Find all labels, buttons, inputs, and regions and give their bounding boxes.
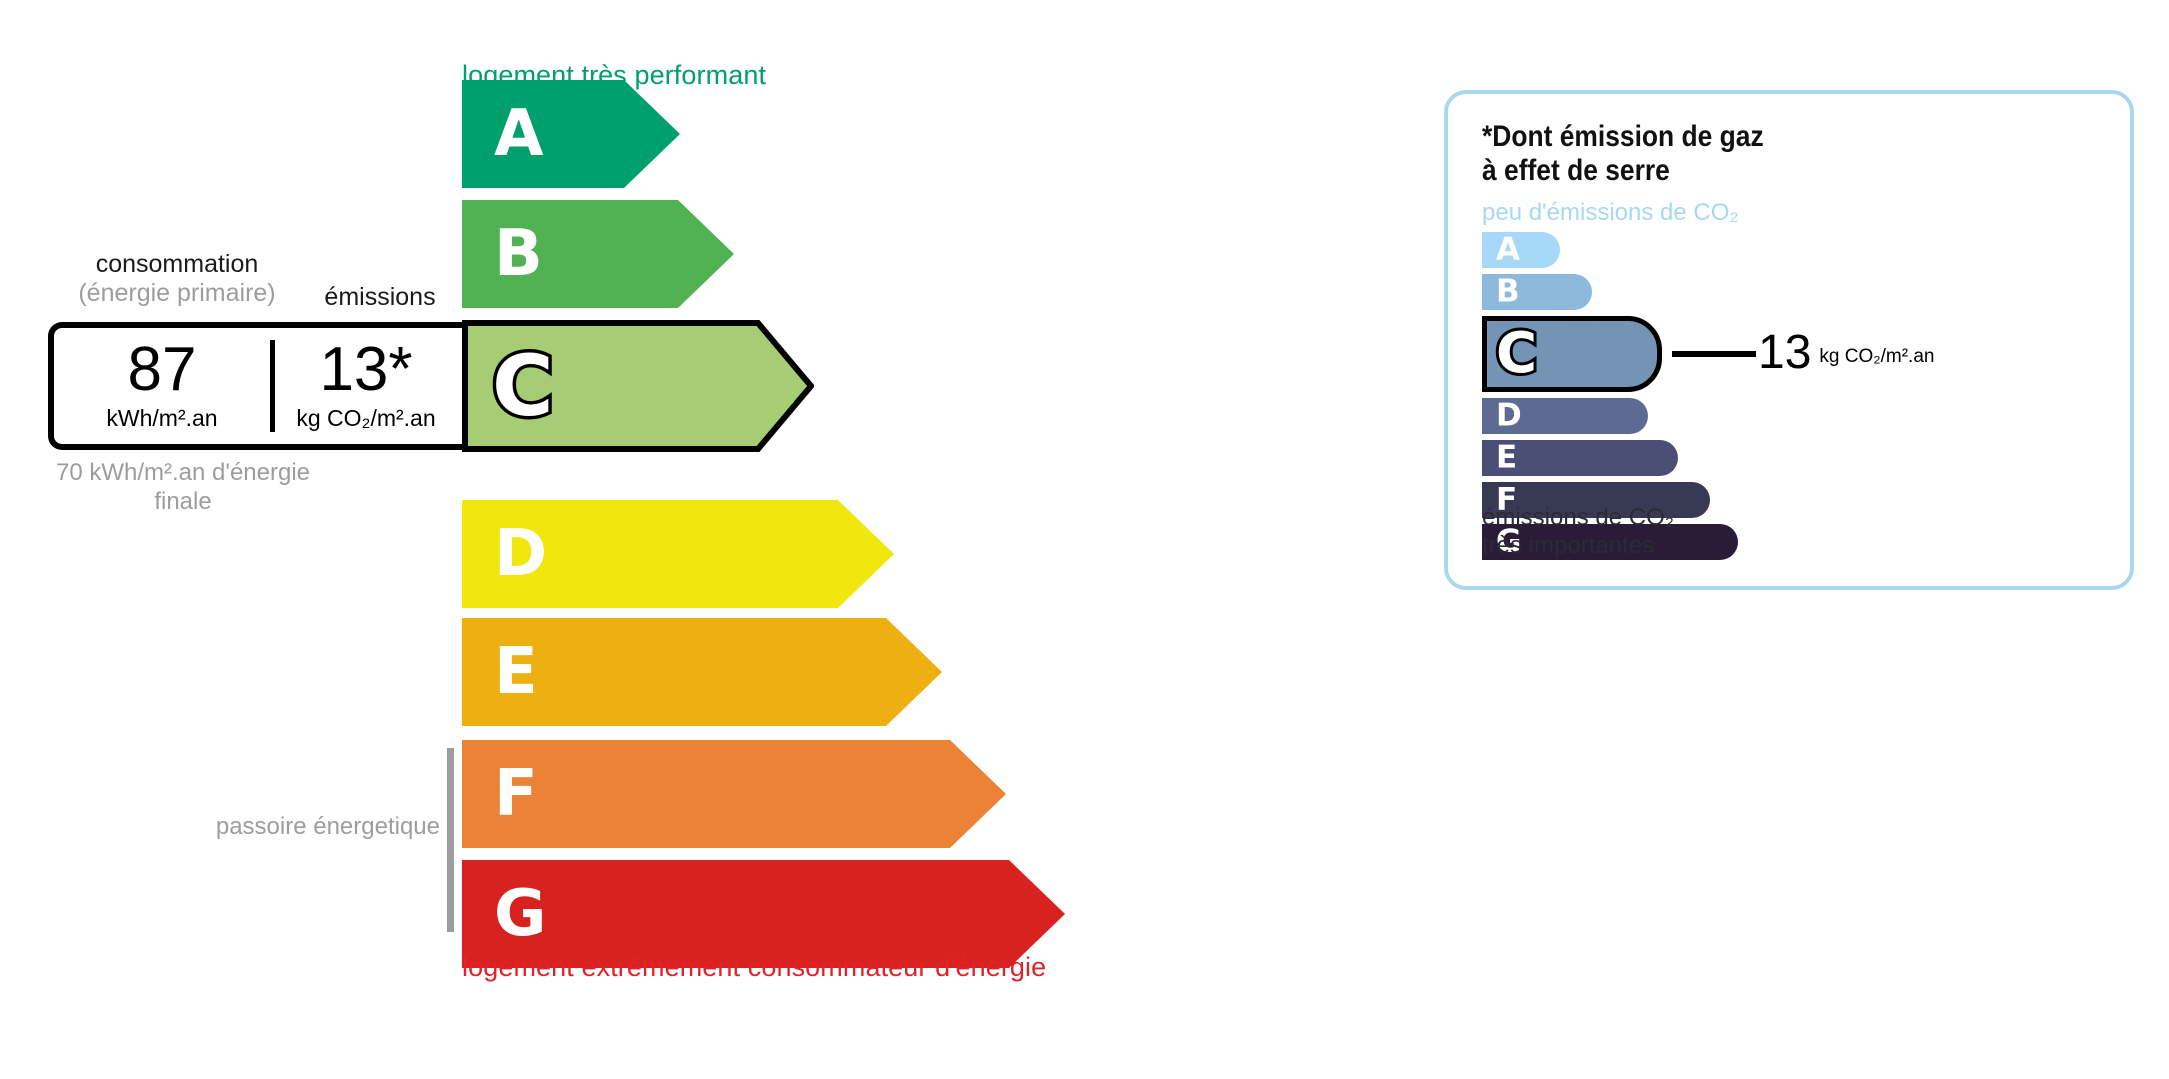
ges-value-unit: kg CO₂/m².an (1819, 346, 1934, 367)
consumption-unit: kWh/m².an (106, 405, 217, 431)
energy-grade-letter-d: D (494, 522, 546, 586)
consumption-label-line1: consommation (52, 250, 302, 279)
energy-grade-bar-b: B (462, 200, 734, 308)
passoire-rule (447, 748, 454, 932)
consumption-label: consommation (énergie primaire) (52, 250, 302, 308)
ges-grade-bar-c: C (1482, 316, 1662, 392)
emissions-value-cell: 13* kg CO₂/m².an (270, 328, 462, 444)
passoire-note: passoire énergetique (120, 812, 440, 841)
ges-grade-letter-d: D (1496, 401, 1522, 432)
ges-bottom-caption: émissions de CO₂ très importantes (1482, 504, 1674, 560)
energy-grade-arrow-f (462, 740, 1006, 848)
consumption-value: 87 (128, 341, 197, 399)
emissions-label: émissions (300, 283, 460, 312)
ges-grade-bar-a: A (1482, 232, 1560, 268)
ges-grade-bar-d: D (1482, 398, 1648, 434)
energy-grade-letter-b: B (494, 222, 542, 286)
ges-grade-bar-b: B (1482, 274, 1592, 310)
energy-grade-bar-f: F (462, 740, 1006, 848)
ges-value: 13kg CO₂/m².an (1758, 329, 1934, 381)
energy-grade-arrow-shape (462, 740, 1006, 848)
consumption-label-line2: (énergie primaire) (52, 279, 302, 308)
energy-grade-bar-a: A (462, 80, 680, 188)
ges-grade-letter-c: C (1496, 326, 1537, 382)
emissions-unit: kg CO₂/m².an (296, 405, 435, 431)
energy-grade-letter-e: E (494, 640, 537, 704)
ges-value-number: 13 (1758, 326, 1811, 379)
final-energy-note: 70 kWh/m².an d'énergie finale (48, 458, 318, 516)
energy-value-box: 87 kWh/m².an 13* kg CO₂/m².an (48, 322, 462, 450)
ges-panel-title: *Dont émission de gaz à effet de serre (1482, 120, 1764, 188)
energy-grade-bar-e: E (462, 618, 942, 726)
ges-grade-letter-a: A (1496, 235, 1520, 266)
ges-grade-bar-e: E (1482, 440, 1678, 476)
energy-grade-bar-c: C (462, 320, 814, 452)
ges-grade-letter-b: B (1496, 277, 1520, 308)
ges-leader-line (1672, 351, 1756, 357)
energy-grade-letter-g: G (494, 882, 546, 946)
emissions-value: 13* (319, 341, 412, 399)
energy-grade-bar-d: D (462, 500, 894, 608)
energy-performance-diagram: logement très performant ABCDEFG consomm… (0, 0, 1430, 1079)
energy-grade-letter-c: C (492, 344, 553, 428)
ges-top-caption: peu d'émissions de CO₂ (1482, 199, 1739, 227)
ges-panel: *Dont émission de gaz à effet de serre p… (1444, 90, 2134, 590)
ges-grade-letter-e: E (1496, 443, 1517, 474)
energy-scale-bottom-caption: logement extrêmement consommateur d'éner… (462, 952, 1046, 983)
energy-grade-letter-f: F (494, 762, 537, 826)
consumption-value-cell: 87 kWh/m².an (54, 328, 270, 444)
energy-grade-letter-a: A (494, 102, 543, 166)
